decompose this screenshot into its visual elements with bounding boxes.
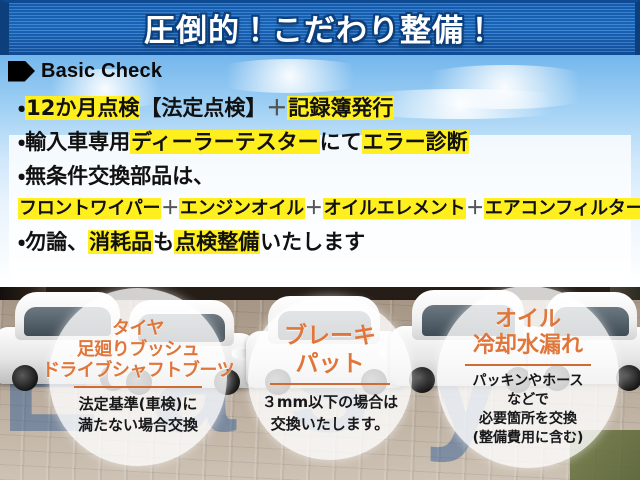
callout-body-line: 法定基準(車検)に [78,394,198,415]
bullet5-text-3: いたします [260,230,365,254]
callout-body-line: 交換いたします。 [262,413,398,435]
advertisement-slide: Easy Auto 圧倒的！こだわり整備！ [0,0,640,480]
bullet5-text-2: も [153,230,174,254]
bullet2-highlight-1: ディーラーテスター [130,130,320,154]
page-title: 圧倒的！こだわり整備！ [0,0,640,55]
part-front-wiper: フロントワイパー [18,198,161,219]
callout-body-line: 必要箇所を交換 [473,410,584,429]
divider [270,383,390,385]
part-oil-element: オイルエレメント [323,198,467,219]
service-bullet-list: ・12か月点検【法定点検】＋記録簿発行 ・輸入車専用ディーラーテスターにてエラー… [0,80,640,285]
plus-separator: ＋ [161,198,179,219]
callout-heading: ブレーキ パット [284,322,376,378]
bullet5-highlight-2: 点検整備 [174,230,260,254]
list-item: ・12か月点検【法定点検】＋記録簿発行 [18,92,640,124]
callout-heading-line: オイル [473,307,583,333]
bullet1-text-1: 【法定点検】 [140,96,266,120]
divider [465,364,591,366]
callout-heading-line: 冷却水漏れ [473,333,583,359]
callout-body-line: パッキンやホース [473,372,584,391]
list-item: ・輸入車専用ディーラーテスターにてエラー診断 [18,126,640,158]
part-engine-oil: エンジンオイル [179,198,305,219]
bullet1-highlight-1: 12か月点検 [25,96,140,120]
callout-circle-oil-coolant: オイル 冷却水漏れ パッキンやホース などで 必要箇所を交換 (整備費用に含む) [437,286,619,468]
callout-body: 法定基準(車検)に 満たない場合交換 [78,394,198,436]
callout-circle-tires: タイヤ 足廻りブッシュ ドライブシャフトブーツ 法定基準(車検)に 満たない場合… [49,288,227,466]
callout-body: パッキンやホース などで 必要箇所を交換 (整備費用に含む) [473,372,584,448]
bullet2-text-2: にて [320,130,362,154]
callout-body: ３mm以下の場合は 交換いたします。 [262,391,398,435]
bullet1-highlight-2: 記録簿発行 [287,96,394,120]
callout-heading-line: ドライブシャフトブーツ [42,360,234,381]
bullet1-plus: ＋ [266,96,287,120]
callout-heading-line: 足廻りブッシュ [42,339,234,360]
callout-body-line: 満たない場合交換 [78,415,198,436]
callout-heading-line: ブレーキ [284,322,376,350]
part-ac-filter: エアコンフィルター [484,198,640,219]
bullet2-highlight-2: エラー診断 [362,130,469,154]
bullet5-highlight-1: 消耗品 [88,230,153,254]
callout-heading-line: タイヤ [42,318,234,339]
callout-body-line: などで [473,391,584,410]
callout-body-line: ３mm以下の場合は [262,391,398,413]
divider [74,386,202,388]
callout-heading: オイル 冷却水漏れ [473,307,583,359]
bullet5-text-1: 勿論、 [25,230,88,254]
plus-separator: ＋ [466,198,484,219]
triangle-right-icon [8,61,35,82]
list-item: ・無条件交換部品は、 [18,160,640,192]
bullet3-text: 無条件交換部品は、 [25,164,214,188]
plus-separator: ＋ [305,198,323,219]
list-item: ・勿論、消耗品も点検整備いたします [18,226,640,258]
replacement-parts-line: フロントワイパー＋エンジンオイル＋オイルエレメント＋エアコンフィルター [18,194,640,224]
callout-body-line: (整備費用に含む) [473,429,584,448]
callout-heading: タイヤ 足廻りブッシュ ドライブシャフトブーツ [42,318,234,381]
callout-circle-brake-pads: ブレーキ パット ３mm以下の場合は 交換いたします。 [248,296,412,460]
bullet2-text-1: 輸入車専用 [25,130,130,154]
callout-heading-line: パット [284,350,376,378]
